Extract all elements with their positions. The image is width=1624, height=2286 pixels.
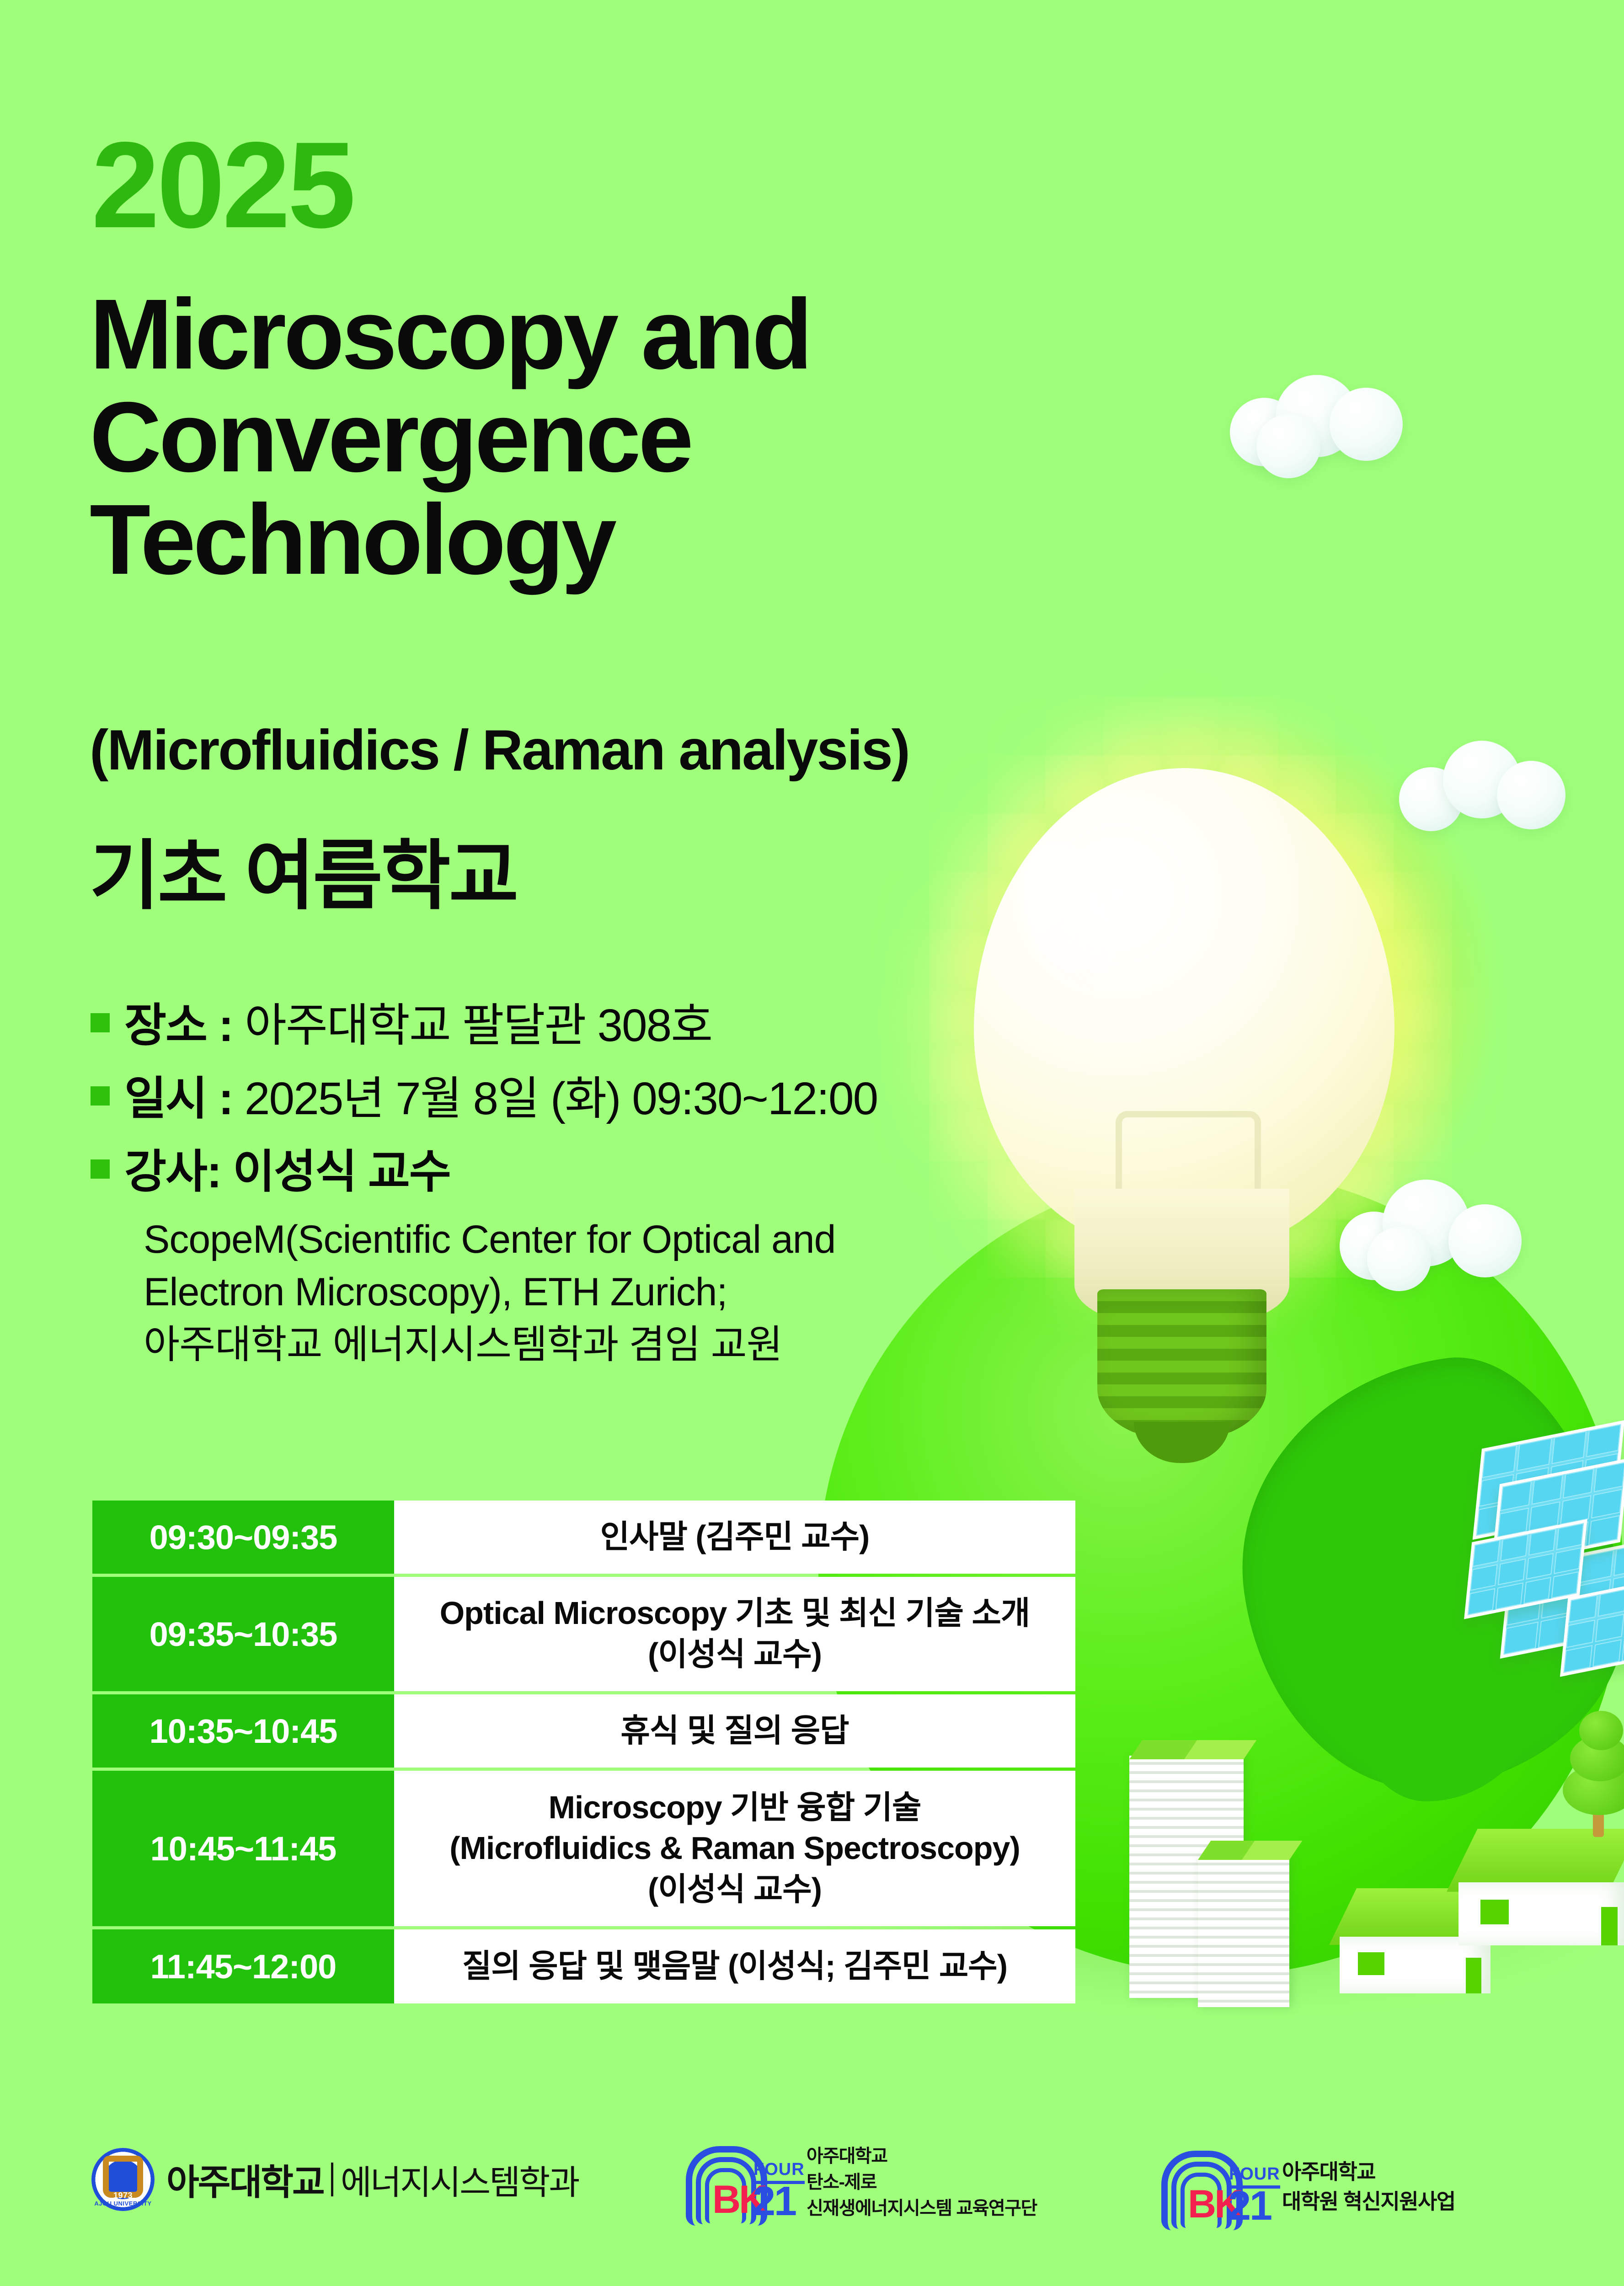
bullet-square-icon [91,1086,110,1106]
schedule-time: 10:45~11:45 [92,1771,394,1926]
info-row-venue: 장소 : 아주대학교 팔달관 308호 [91,997,1165,1054]
ajou-seal-year: 1973 [113,2191,133,2201]
title-line-1: Microscopy and [90,283,1187,386]
bk21-caption-line-1: 아주대학교 [807,2143,1037,2169]
venue-text: 장소 : 아주대학교 팔달관 308호 [124,997,712,1054]
bk21-21-text: 21 [753,2178,796,2225]
bk21-brand-icon: BK FOUR 21 [1161,2148,1276,2226]
ajou-seal-icon: 1973 AJOU UNIVERSITY [91,2148,155,2211]
continent-shape [1216,1338,1624,1811]
bk21-caption-line-2: 대학원 혁신지원사업 [1282,2187,1455,2217]
table-row: 09:35~10:35 Optical Microscopy 기초 및 최신 기… [92,1577,1075,1691]
table-row: 10:35~10:45 휴식 및 질의 응답 [92,1694,1075,1768]
lightbulb-tip [1134,1422,1230,1463]
bk21-caption-left: 아주대학교 탄소-제로 신재생에너지시스템 교육연구단 [807,2143,1037,2221]
title-line-3: Technology [90,489,1187,592]
speaker-affiliation-line-3: 아주대학교 에너지시스템학과 겸임 교원 [144,1319,1165,1371]
building-icon-short [1198,1856,1289,2007]
house-icon-left [1340,1888,1490,1993]
bk21-caption-line-3: 신재생에너지시스템 교육연구단 [807,2195,1037,2222]
bk21-logo-grad-innovation: BK FOUR 21 아주대학교 대학원 혁신지원사업 [1161,2148,1455,2226]
title-line-2: Convergence [90,386,1187,489]
table-row: 09:30~09:35 인사말 (김주민 교수) [92,1501,1075,1574]
schedule-table: 09:30~09:35 인사말 (김주민 교수) 09:35~10:35 Opt… [92,1501,1075,2007]
schedule-time: 11:45~12:00 [92,1929,394,2003]
bk21-caption-line-2: 탄소-제로 [807,2169,1037,2195]
schedule-time: 09:30~09:35 [92,1501,394,1574]
logo-divider [331,2163,333,2196]
cloud-icon-lower [1340,1180,1536,1294]
continent-shape-2 [1353,1591,1545,1801]
info-row-datetime: 일시 : 2025년 7월 8일 (화) 09:30~12:00 [91,1070,1165,1127]
schedule-time: 09:35~10:35 [92,1577,394,1691]
house-icon-right [1458,1829,1624,1945]
datetime-value: 2025년 7월 8일 (화) 09:30~12:00 [245,1073,877,1124]
footer-logos: 1973 AJOU UNIVERSITY 아주대학교 에너지시스템학과 BK F… [0,2127,1624,2241]
poster-subtitle-english: (Microfluidics / Raman analysis) [90,718,909,783]
event-info-list: 장소 : 아주대학교 팔달관 308호 일시 : 2025년 7월 8일 (화)… [91,997,1165,1372]
bullet-square-icon [91,1013,110,1032]
ajou-university-logo: 1973 AJOU UNIVERSITY 아주대학교 에너지시스템학과 [91,2148,578,2211]
lightbulb-highlight [1007,832,1132,1001]
poster-subtitle-korean: 기초 여름학교 [90,814,517,924]
speaker-label: 강사: 이성식 교수 [124,1143,450,1201]
ajou-university-name: 아주대학교 [166,2154,324,2205]
schedule-topic: Microscopy 기반 융합 기술 (Microfluidics & Ram… [394,1771,1075,1926]
speaker-affiliation-line-1: ScopeM(Scientific Center for Optical and [144,1213,1165,1266]
cloud-icon-top [1230,375,1422,480]
bk21-caption-right: 아주대학교 대학원 혁신지원사업 [1282,2157,1455,2217]
cloud-icon-middle [1399,741,1573,846]
info-row-speaker: 강사: 이성식 교수 [91,1143,1165,1201]
bk21-logo-carbon-zero: BK FOUR 21 아주대학교 탄소-제로 신재생에너지시스템 교육연구단 [686,2143,1037,2221]
solar-panel-icon-5 [1560,1573,1624,1677]
poster-title: Microscopy and Convergence Technology [90,283,1187,592]
ajou-seal-ring-text: AJOU UNIVERSITY [91,2200,155,2207]
venue-label: 장소 : [124,1000,245,1051]
schedule-topic: Optical Microscopy 기초 및 최신 기술 소개 (이성식 교수… [394,1577,1075,1691]
datetime-text: 일시 : 2025년 7월 8일 (화) 09:30~12:00 [124,1070,877,1127]
schedule-topic: 질의 응답 및 맺음말 (이성식; 김주민 교수) [394,1929,1075,2003]
schedule-topic: 휴식 및 질의 응답 [394,1694,1075,1768]
solar-panel-icon-2 [1500,1539,1624,1659]
tree-icon [1555,1705,1624,1838]
speaker-affiliation: ScopeM(Scientific Center for Optical and… [144,1213,1165,1372]
table-row: 10:45~11:45 Microscopy 기반 융합 기술 (Microfl… [92,1771,1075,1926]
bk21-21-text: 21 [1228,2183,1271,2230]
solar-panel-icon-3 [1491,1458,1624,1568]
solar-panel-icon-1 [1473,1420,1624,1540]
table-row: 11:45~12:00 질의 응답 및 맺음말 (이성식; 김주민 교수) [92,1929,1075,2003]
venue-value: 아주대학교 팔달관 308호 [245,1000,712,1051]
building-icon-tall [1129,1756,1244,1998]
datetime-label: 일시 : [124,1073,245,1124]
speaker-affiliation-line-2: Electron Microscopy), ETH Zurich; [144,1266,1165,1319]
ajou-department-name: 에너지시스템학과 [341,2155,579,2204]
bullet-square-icon [91,1159,110,1179]
schedule-time: 10:35~10:45 [92,1694,394,1768]
solar-panel-icon-4 [1464,1519,1587,1619]
poster-year: 2025 [91,123,353,246]
bk21-caption-line-1: 아주대학교 [1282,2157,1455,2187]
schedule-topic: 인사말 (김주민 교수) [394,1501,1075,1574]
bk21-brand-icon: BK FOUR 21 [686,2143,800,2221]
